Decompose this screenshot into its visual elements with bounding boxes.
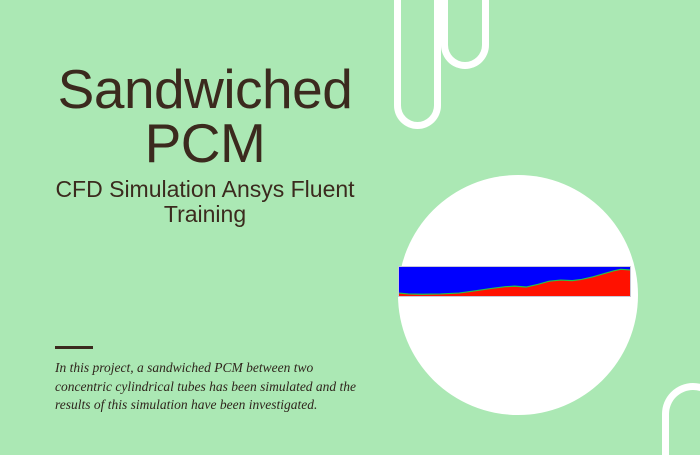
pill-outline-top-left-icon	[394, 0, 441, 129]
page-title-line-2: PCM	[30, 116, 380, 170]
page-title-line-1: Sandwiched	[30, 62, 380, 116]
presentation-slide: Sandwiched PCM CFD Simulation Ansys Flue…	[0, 0, 700, 455]
pill-outline-bottom-right-icon	[662, 383, 700, 455]
liquid-fraction-contour-svg	[399, 267, 630, 296]
cfd-contour-image	[398, 266, 631, 297]
headline-block: Sandwiched PCM CFD Simulation Ansys Flue…	[30, 62, 380, 227]
note-divider	[55, 346, 93, 349]
note-text: In this project, a sandwiched PCM betwee…	[55, 359, 360, 415]
page-subtitle: CFD Simulation Ansys Fluent Training	[30, 177, 380, 227]
pill-outline-top-right-icon	[441, 0, 489, 69]
